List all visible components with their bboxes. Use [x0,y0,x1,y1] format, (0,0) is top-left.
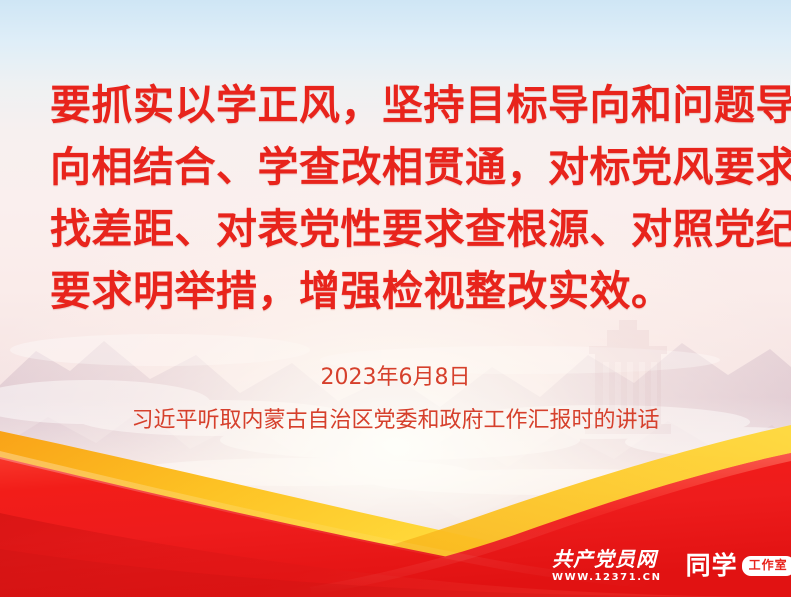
studio-logo[interactable]: 同学 工作室 [686,552,791,580]
headline-line-4: 要求明举措，增强检视整改实效。 [50,260,750,322]
headline-line-1: 要抓实以学正风，坚持目标导向和问题导 [50,74,750,136]
speech-source: 习近平听取内蒙古自治区党委和政府工作汇报时的讲话 [0,406,791,436]
site-url-text: WWW.12371.CN [552,571,662,584]
poster-canvas: 要抓实以学正风，坚持目标导向和问题导 向相结合、学查改相贯通，对标党风要求 找差… [0,0,791,597]
studio-name-text: 同学 [686,552,738,580]
site-name-text: 共产党员网 [552,548,657,570]
studio-badge: 工作室 [742,556,791,576]
brand-logo-group[interactable]: 共产党员网 WWW.12371.CN 同学 工作室 [552,542,782,590]
site-logo[interactable]: 共产党员网 WWW.12371.CN [552,548,662,584]
headline-line-2: 向相结合、学查改相贯通，对标党风要求 [50,136,750,198]
headline-text: 要抓实以学正风，坚持目标导向和问题导 向相结合、学查改相贯通，对标党风要求 找差… [50,74,750,322]
speech-date: 2023年6月8日 [0,363,791,393]
headline-line-3: 找差距、对表党性要求查根源、对照党纪 [50,198,750,260]
